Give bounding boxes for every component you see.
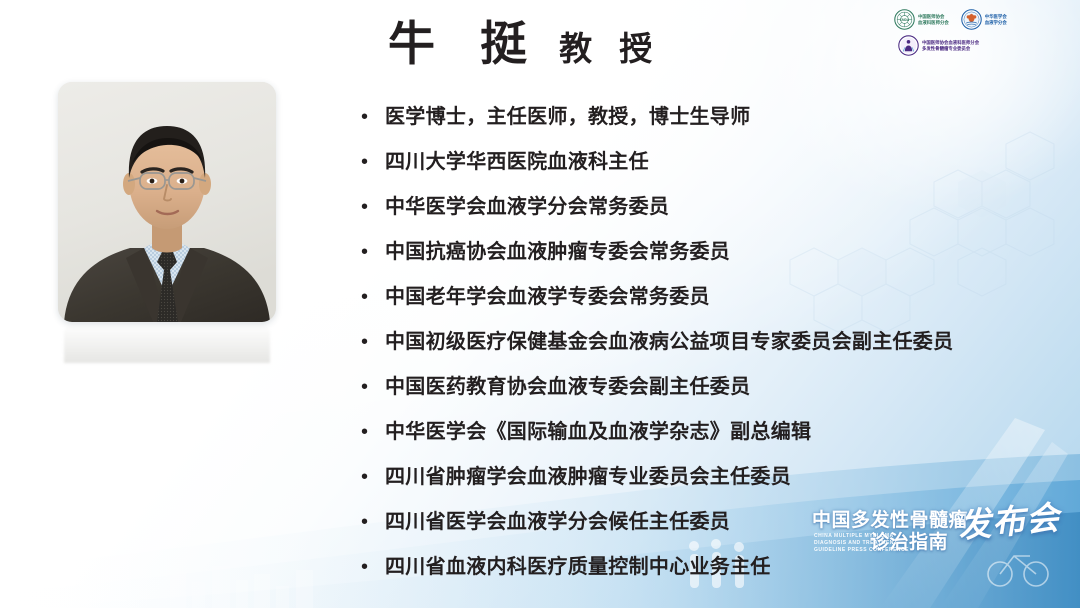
list-item: • 医学博士，主任医师，教授，博士生导师 <box>357 104 1057 149</box>
portrait-photo <box>58 82 276 322</box>
bullet-icon: • <box>357 284 385 310</box>
svg-text:CMDA: CMDA <box>900 18 910 22</box>
speaker-name: 牛 挺 <box>388 20 543 67</box>
list-item-label: 中国初级医疗保健基金会血液病公益项目专家委员会副主任委员 <box>385 329 953 355</box>
bullet-icon: • <box>357 464 385 490</box>
bullet-icon: • <box>357 554 385 580</box>
logo-line-1: 中华医学会 <box>985 14 1007 20</box>
list-item: • 四川大学华西医院血液科主任 <box>357 149 1057 194</box>
bullet-icon: • <box>357 149 385 175</box>
list-item-label: 医学博士，主任医师，教授，博士生导师 <box>385 104 750 130</box>
myeloma-committee-seal-icon <box>898 35 919 56</box>
logo-line-2: 多发性骨髓瘤专业委员会 <box>922 46 979 52</box>
bullet-icon: • <box>357 329 385 355</box>
portrait-container <box>58 82 276 322</box>
bullet-icon: • <box>357 194 385 220</box>
presentation-slide: 牛 挺 教 授 • 医学博士，主任医师，教授，博士生导师 • 四川大学华西医院血… <box>0 0 1080 608</box>
credentials-list: • 医学博士，主任医师，教授，博士生导师 • 四川大学华西医院血液科主任 • 中… <box>357 104 1057 599</box>
cma-seal-icon <box>961 9 982 30</box>
list-item-label: 中国老年学会血液学专委会常务委员 <box>385 284 710 310</box>
list-item: • 四川省医学会血液学分会候任主任委员 <box>357 509 1057 554</box>
logo-caption: 中国医师协会血液科医师分会 多发性骨髓瘤专业委员会 <box>922 40 979 52</box>
list-item: • 中国抗癌协会血液肿瘤专委会常务委员 <box>357 239 1057 284</box>
bullet-icon: • <box>357 419 385 445</box>
list-item-label: 中华医学会《国际输血及血液学杂志》副总编辑 <box>385 419 811 445</box>
bullet-icon: • <box>357 509 385 535</box>
bullet-icon: • <box>357 239 385 265</box>
list-item: • 中华医学会血液学分会常务委员 <box>357 194 1057 239</box>
list-item-label: 四川省血液内科医疗质量控制中心业务主任 <box>385 554 771 580</box>
logo-caption: 中国医师协会 血液科医师分会 <box>918 14 949 26</box>
list-item: • 中国医药教育协会血液专委会副主任委员 <box>357 374 1057 419</box>
logo-line-1: 中国医师协会血液科医师分会 <box>922 40 979 46</box>
logo-line-1: 中国医师协会 <box>918 14 949 20</box>
list-item-label: 四川省肿瘤学会血液肿瘤专业委员会主任委员 <box>385 464 791 490</box>
list-item-label: 四川省医学会血液学分会候任主任委员 <box>385 509 730 535</box>
speaker-honorific: 教 授 <box>559 32 661 65</box>
logo-cmda-myeloma-committee: 中国医师协会血液科医师分会 多发性骨髓瘤专业委员会 <box>898 35 1066 56</box>
logo-cmda-hematology: CMDA 中国医师协会 血液科医师分会 <box>894 9 949 30</box>
list-item: • 四川省血液内科医疗质量控制中心业务主任 <box>357 554 1057 599</box>
logo-line-2: 血液科医师分会 <box>918 20 949 26</box>
logo-caption: 中华医学会 血液学分会 <box>985 14 1007 26</box>
logo-cma-hematology: 中华医学会 血液学分会 <box>961 9 1007 30</box>
list-item-label: 中国医药教育协会血液专委会副主任委员 <box>385 374 750 400</box>
list-item: • 中国老年学会血液学专委会常务委员 <box>357 284 1057 329</box>
page-title: 牛 挺 教 授 <box>388 20 661 67</box>
list-item-label: 中华医学会血液学分会常务委员 <box>385 194 669 220</box>
organization-logos: CMDA 中国医师协会 血液科医师分会 中华医学 <box>894 9 1066 56</box>
list-item: • 中华医学会《国际输血及血液学杂志》副总编辑 <box>357 419 1057 464</box>
logo-line-2: 血液学分会 <box>985 20 1007 26</box>
bullet-icon: • <box>357 374 385 400</box>
cmda-seal-icon: CMDA <box>894 9 915 30</box>
list-item-label: 四川大学华西医院血液科主任 <box>385 149 649 175</box>
list-item: • 四川省肿瘤学会血液肿瘤专业委员会主任委员 <box>357 464 1057 509</box>
bullet-icon: • <box>357 104 385 130</box>
list-item: • 中国初级医疗保健基金会血液病公益项目专家委员会副主任委员 <box>357 329 1057 374</box>
list-item-label: 中国抗癌协会血液肿瘤专委会常务委员 <box>385 239 730 265</box>
